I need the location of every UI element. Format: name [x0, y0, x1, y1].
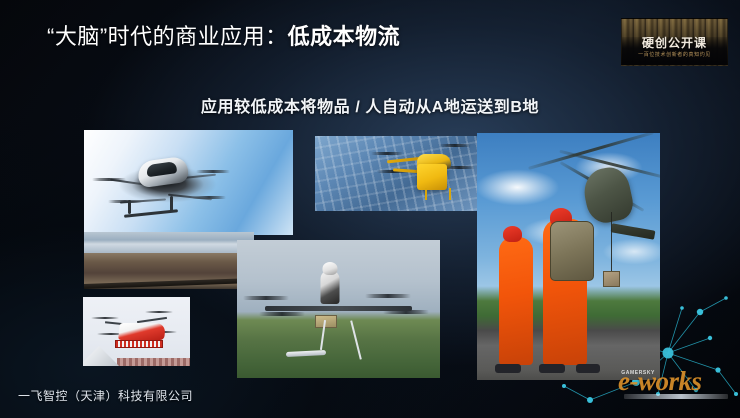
- photo-helicopter-hoist-rescue: GAMERSKY: [477, 133, 660, 380]
- photo-red-cargo-drone: [83, 297, 190, 366]
- rotor-blur: [439, 144, 471, 147]
- program-badge: 硬创公开课 一百位技术创新者的真知灼见: [621, 18, 728, 66]
- photo-passenger-drone-sky: [84, 130, 293, 235]
- slide-subtitle: 应用较低成本将物品 / 人自动从A地运送到B地: [0, 93, 740, 117]
- drone-fuselage: [118, 323, 166, 340]
- rotor-blur: [91, 317, 119, 319]
- rotor-blur: [243, 296, 289, 300]
- crew-helmet-left: [503, 226, 522, 242]
- slide-title-plain: “大脑”时代的商业应用：: [47, 24, 288, 49]
- rotor-blur: [365, 294, 411, 298]
- crew-boot: [539, 364, 565, 373]
- program-badge-title: 硬创公开课: [622, 34, 727, 51]
- presentation-slide: “大脑”时代的商业应用：低成本物流 硬创公开课 一百位技术创新者的真知灼见 应用…: [0, 0, 740, 418]
- crew-member-left: [499, 237, 533, 365]
- cargo-tray: [115, 340, 163, 348]
- eworks-underline: [624, 394, 728, 399]
- backpack: [550, 221, 594, 281]
- airframe-boom: [265, 306, 411, 311]
- drone-cabin: [137, 156, 190, 189]
- photo-watermark: GAMERSKY: [621, 370, 655, 376]
- hoist-cable: [611, 212, 613, 274]
- program-badge-subtitle: 一百位技术创新者的真知灼见: [622, 51, 727, 58]
- roof-tiles: [117, 358, 190, 366]
- helicopter-fuselage: [580, 163, 636, 225]
- landing-skid: [170, 196, 173, 212]
- crew-boot: [495, 364, 521, 373]
- water-band: [84, 244, 254, 253]
- rotor-blur: [145, 311, 173, 313]
- rotor-blade: [528, 133, 654, 170]
- rider-helmet: [323, 262, 338, 275]
- landing-leg: [425, 188, 427, 200]
- landing-strut: [350, 320, 362, 359]
- road-band: [84, 278, 254, 289]
- equipment-pod: [315, 315, 337, 328]
- landing-skid: [128, 200, 131, 214]
- photo-yellow-delivery-drone: [315, 136, 481, 211]
- cargo-box: [417, 164, 447, 190]
- rotor-blur: [196, 170, 230, 173]
- rotor-blur: [259, 312, 305, 316]
- company-footer: 一飞智控（天津）科技有限公司: [18, 387, 193, 404]
- landing-leg: [449, 188, 451, 200]
- crew-boot: [576, 364, 600, 373]
- helicopter-tail: [610, 223, 655, 240]
- landing-ski: [286, 350, 326, 357]
- house-roof: [83, 346, 121, 366]
- drone-arm: [168, 194, 212, 201]
- rotor-blur: [371, 152, 403, 155]
- photo-aerial-coastline: [84, 232, 254, 289]
- rider-figure: [321, 270, 340, 304]
- suspended-cargo: [603, 271, 620, 287]
- slide-title: “大脑”时代的商业应用：低成本物流: [47, 22, 400, 52]
- photo-hoverbike-multicopter: [237, 240, 440, 378]
- slide-title-accent: 低成本物流: [288, 24, 401, 49]
